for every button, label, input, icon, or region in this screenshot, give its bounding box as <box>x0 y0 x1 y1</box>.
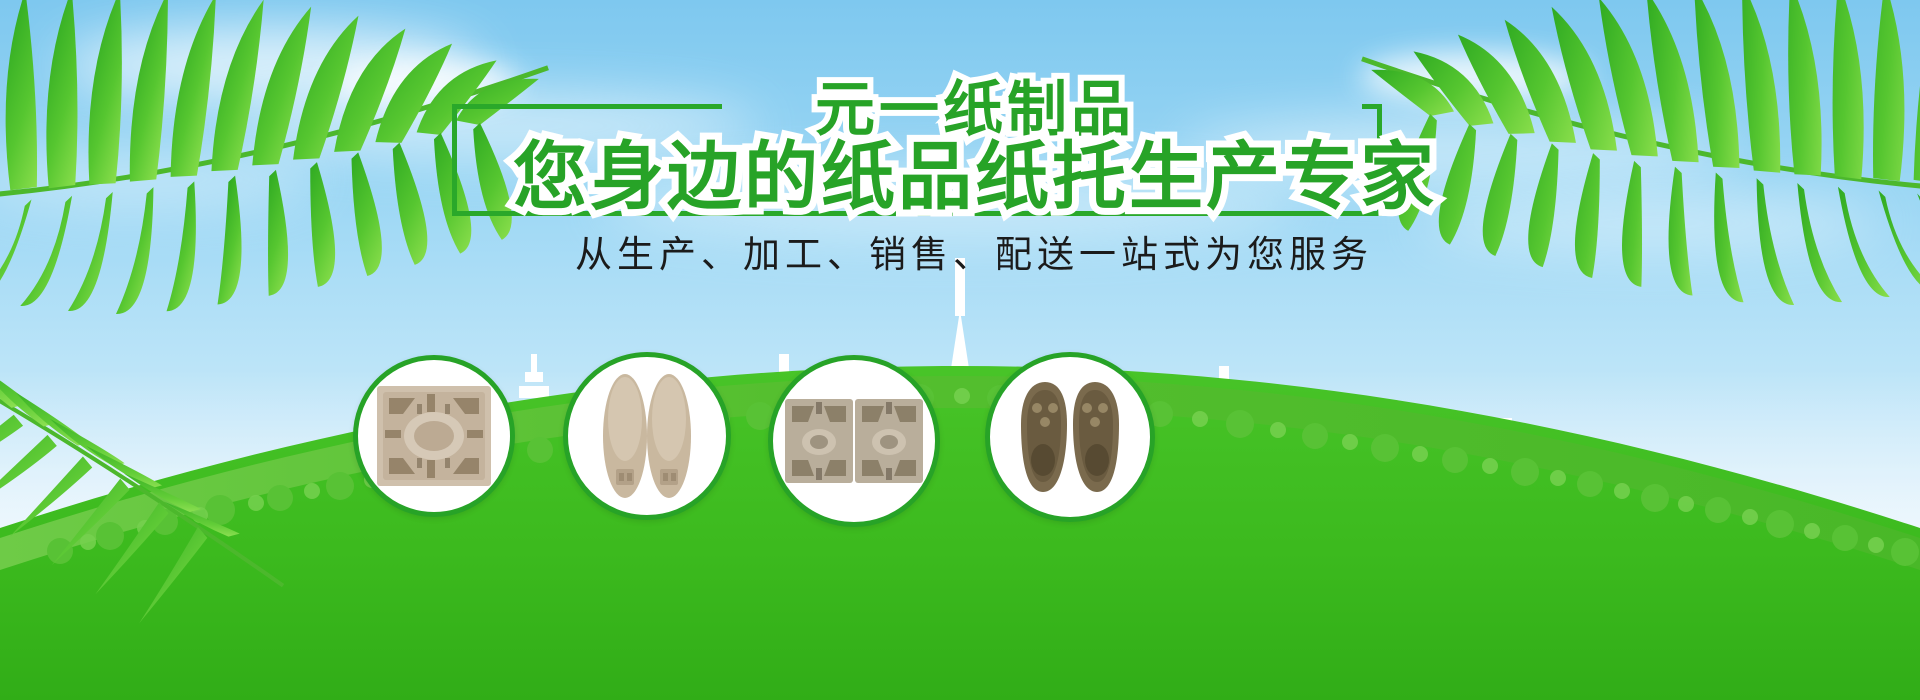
brand-name: 元一纸制品 <box>15 80 1920 140</box>
headline-main: 您身边的纸品纸托生产专家 <box>15 140 1920 214</box>
promo-banner: 元一纸制品 您身边的纸品纸托生产专家 从生产、加工、销售、配送一站式为您服务 <box>0 0 1920 700</box>
molded-pulp-square-tray-icon <box>375 384 493 488</box>
product-circle-4[interactable] <box>985 352 1155 522</box>
subtitle: 从生产、加工、销售、配送一站式为您服务 <box>14 236 1920 273</box>
molded-pulp-pair-trays-icon <box>784 398 924 484</box>
product-circle-1[interactable] <box>353 355 515 517</box>
product-circle-2[interactable] <box>563 352 731 520</box>
palm-frond-icon <box>0 300 330 630</box>
molded-pulp-shoe-inserts-icon <box>595 371 699 501</box>
molded-pulp-dark-inserts-icon <box>1015 378 1125 496</box>
product-circle-3[interactable] <box>768 355 940 527</box>
